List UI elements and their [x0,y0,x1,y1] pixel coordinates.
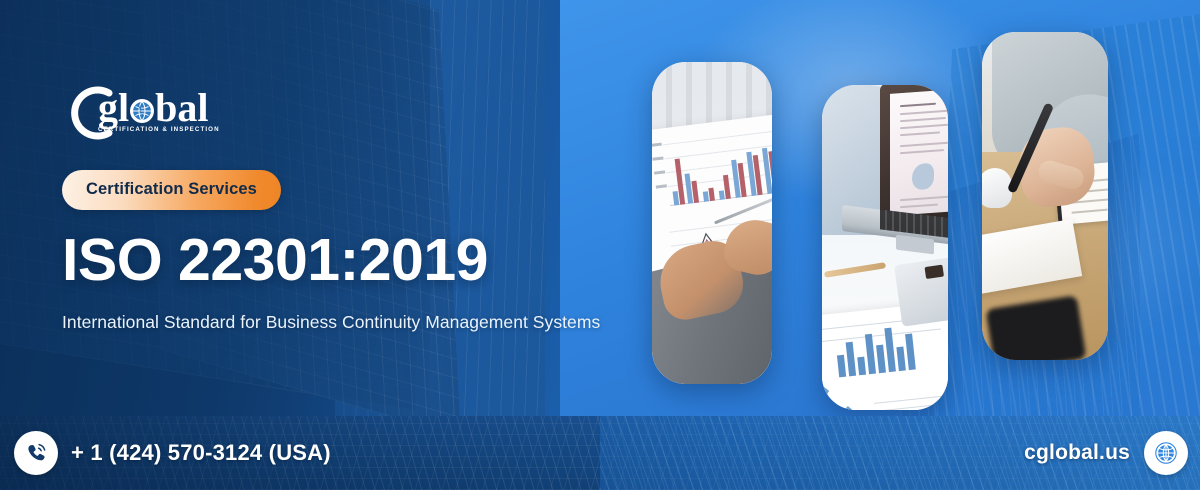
phone-number: + 1 (424) 570-3124 (USA) [71,440,331,466]
globe-icon [1144,431,1188,475]
photo-hand-writing [982,32,1108,360]
iso-certification-banner: glbal CERTIFICATION & INSPECTION Certifi… [0,0,1200,490]
contact-phone[interactable]: + 1 (424) 570-3124 (USA) [14,431,331,475]
photo-laptop-documents [822,85,948,410]
website-link[interactable]: cglobal.us [1024,431,1188,475]
banner-footer: + 1 (424) 570-3124 (USA) cglobal.us [0,416,1200,490]
photo-card-laptop-documents[interactable] [822,85,948,410]
phone-icon [14,431,58,475]
photo-card-business-charts[interactable] [652,62,772,384]
photo-card-hand-writing[interactable] [982,32,1108,360]
website-url: cglobal.us [1024,441,1130,465]
photo-business-charts [652,62,772,384]
